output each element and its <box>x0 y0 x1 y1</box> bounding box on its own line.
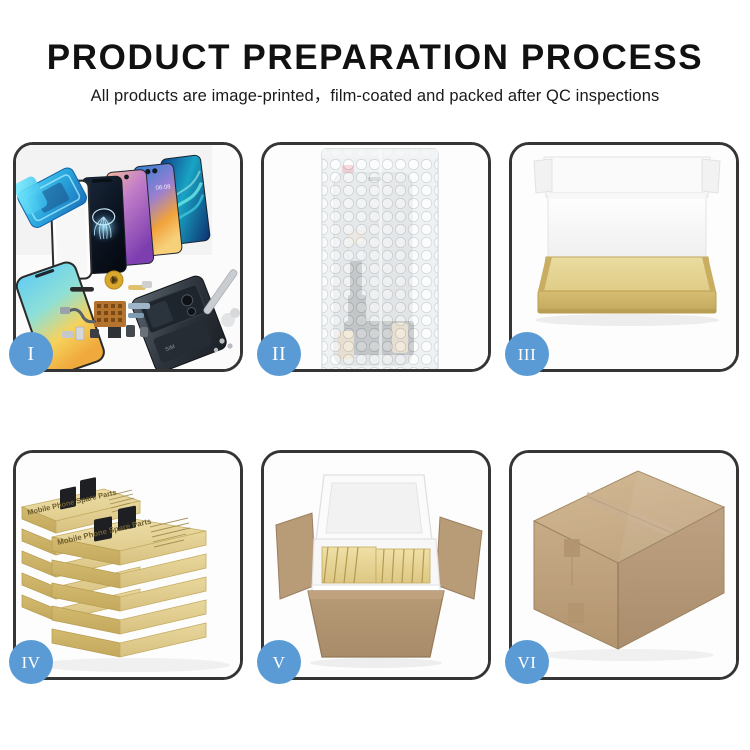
step-4-image: Mobile Phone Spare Parts Mobile Phone Sp… <box>16 453 240 677</box>
bubble-wrap-illustration <box>264 145 488 369</box>
step-5-image <box>264 453 488 677</box>
step-badge-1: I <box>9 332 53 376</box>
stacked-boxes-illustration: Mobile Phone Spare Parts Mobile Phone Sp… <box>16 453 240 677</box>
step-badge-5: V <box>257 640 301 684</box>
step-1-image: 06:08 <box>16 145 240 369</box>
step-badge-6: VI <box>505 640 549 684</box>
carton-filled-illustration <box>264 453 488 677</box>
step-badge-2: II <box>257 332 301 376</box>
steps-grid: 06:08 <box>0 0 750 750</box>
product-preparation-infographic: PRODUCT PREPARATION PROCESS All products… <box>0 0 750 750</box>
step-badge-4: IV <box>9 640 53 684</box>
step-panel-6: VI <box>509 450 739 680</box>
step-panel-2: II <box>261 142 491 372</box>
step-3-image <box>512 145 736 369</box>
step-badge-3: III <box>505 332 549 376</box>
step-6-image <box>512 453 736 677</box>
step-panel-5: V <box>261 450 491 680</box>
step-panel-3: III <box>509 142 739 372</box>
step-2-image <box>264 145 488 369</box>
components-illustration: 06:08 <box>16 145 240 369</box>
step-panel-4: Mobile Phone Spare Parts Mobile Phone Sp… <box>13 450 243 680</box>
sealed-carton-illustration <box>512 453 736 677</box>
step-panel-1: 06:08 <box>13 142 243 372</box>
foam-box-illustration <box>512 145 736 369</box>
